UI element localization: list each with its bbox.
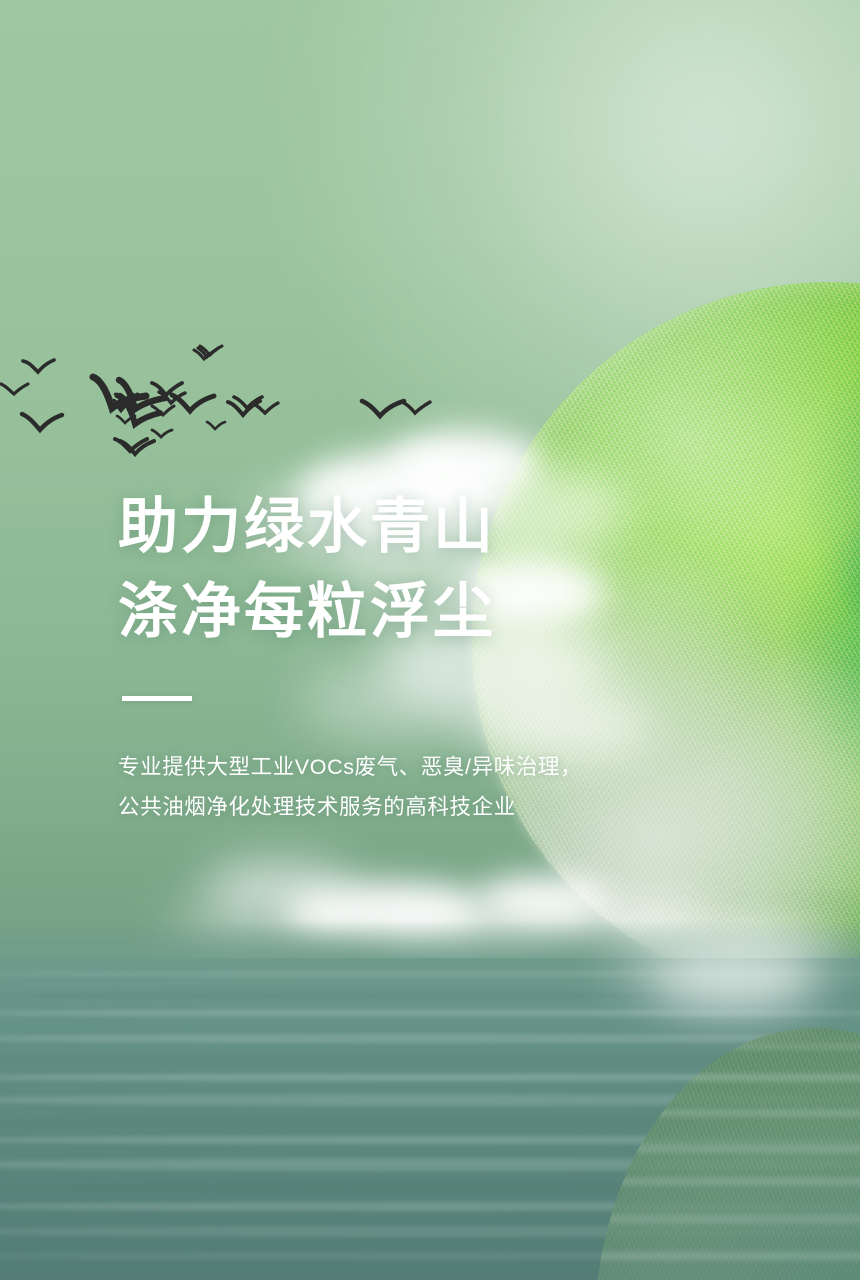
bird-icon — [110, 400, 134, 414]
globe-reflection — [595, 1028, 860, 1280]
bird-icon — [114, 394, 142, 408]
bird-icon — [192, 348, 218, 362]
water-ripple — [0, 1010, 860, 1016]
reflection-water-veil — [595, 1028, 860, 1280]
reflection-ripple — [595, 1110, 860, 1116]
hero-banner: 助力绿水青山 涤净每粒浮尘 专业提供大型工业VOCs废气、恶臭/异味治理， 公共… — [0, 0, 860, 1280]
reflection-ripple — [595, 1214, 860, 1224]
bird-icon — [90, 374, 150, 418]
reflection-ripple — [595, 1074, 860, 1081]
bird-icon — [400, 400, 432, 416]
reflection-ripple — [595, 1044, 860, 1049]
bird-icon — [20, 412, 64, 434]
bird-icon — [113, 436, 149, 454]
headline-line-1: 助力绿水青山 — [118, 484, 678, 569]
bird-icon — [250, 400, 280, 416]
reflection-ripple — [595, 1178, 860, 1185]
bird-icon — [118, 396, 162, 432]
bird-icon — [116, 378, 168, 418]
bird-icon — [150, 428, 174, 440]
bird-icon — [157, 390, 187, 406]
bird-icon — [150, 380, 184, 398]
bird-icon — [118, 392, 140, 404]
bird-icon — [150, 404, 176, 418]
reflection-ripple — [595, 1144, 860, 1153]
bird-icon — [226, 398, 262, 418]
cloud — [655, 952, 815, 1008]
bird-icon — [115, 392, 139, 404]
subtitle-line-1: 专业提供大型工业VOCs废气、恶臭/异味治理， — [118, 747, 678, 787]
bird-icon — [196, 346, 220, 360]
bird-icon — [205, 420, 227, 432]
bird-icon — [198, 344, 224, 358]
bird-icon — [170, 392, 216, 416]
banner-copy: 助力绿水青山 涤净每粒浮尘 专业提供大型工业VOCs废气、恶臭/异味治理， 公共… — [118, 484, 678, 827]
subtitle-line-2: 公共油烟净化处理技术服务的高科技企业 — [118, 787, 678, 827]
headline-line-2: 涤净每粒浮尘 — [118, 569, 678, 654]
cloud — [205, 862, 355, 914]
reflection-ripple — [595, 1252, 860, 1260]
bird-icon — [232, 394, 264, 410]
bird-icon — [118, 438, 156, 458]
bird-icon — [112, 398, 132, 410]
headline-divider — [122, 696, 192, 701]
bird-icon — [113, 392, 135, 404]
bird-icon — [0, 382, 30, 398]
bird-icon — [115, 414, 137, 426]
bird-icon — [360, 398, 406, 420]
bird-icon — [22, 358, 56, 376]
